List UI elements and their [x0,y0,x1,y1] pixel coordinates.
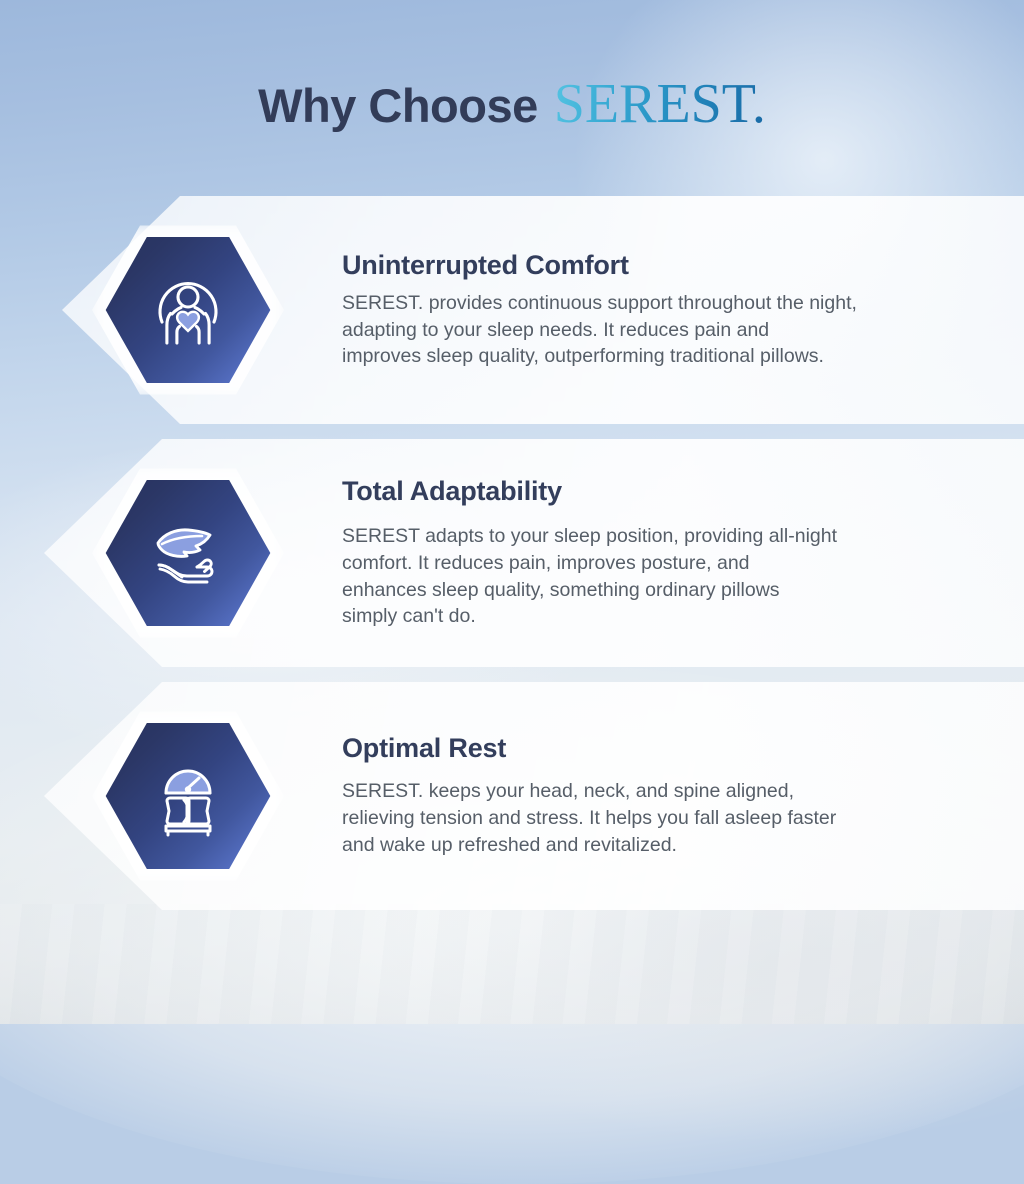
pillows-gauge-icon [140,748,236,844]
card-title: Total Adaptability [342,476,837,507]
card-icon-badge [88,234,288,386]
page-title: Why ChooseSEREST. [0,72,1024,136]
feature-card[interactable]: Total Adaptability SEREST adapts to your… [0,439,1024,667]
person-holding-heart-icon [142,264,234,356]
card-description: SEREST. keeps your head, neck, and spine… [342,778,836,859]
feature-card-list: Uninterrupted Comfort SEREST. provides c… [0,196,1024,925]
card-icon-badge [88,477,288,629]
feature-card[interactable]: Optimal Rest SEREST. keeps your head, ne… [0,682,1024,910]
card-text-block: Total Adaptability SEREST adapts to your… [342,476,927,631]
card-text-block: Optimal Rest SEREST. keeps your head, ne… [342,733,926,859]
feature-card[interactable]: Uninterrupted Comfort SEREST. provides c… [0,196,1024,424]
card-text-block: Uninterrupted Comfort SEREST. provides c… [342,250,947,371]
page-title-prefix: Why Choose [258,79,538,132]
brand-wordmark: SEREST. [554,73,766,135]
feather-in-hand-icon [140,505,236,601]
card-description: SEREST. provides continuous support thro… [342,290,857,371]
card-title: Uninterrupted Comfort [342,250,857,281]
card-description: SEREST adapts to your sleep position, pr… [342,523,837,631]
card-icon-badge [88,720,288,872]
card-title: Optimal Rest [342,733,836,764]
